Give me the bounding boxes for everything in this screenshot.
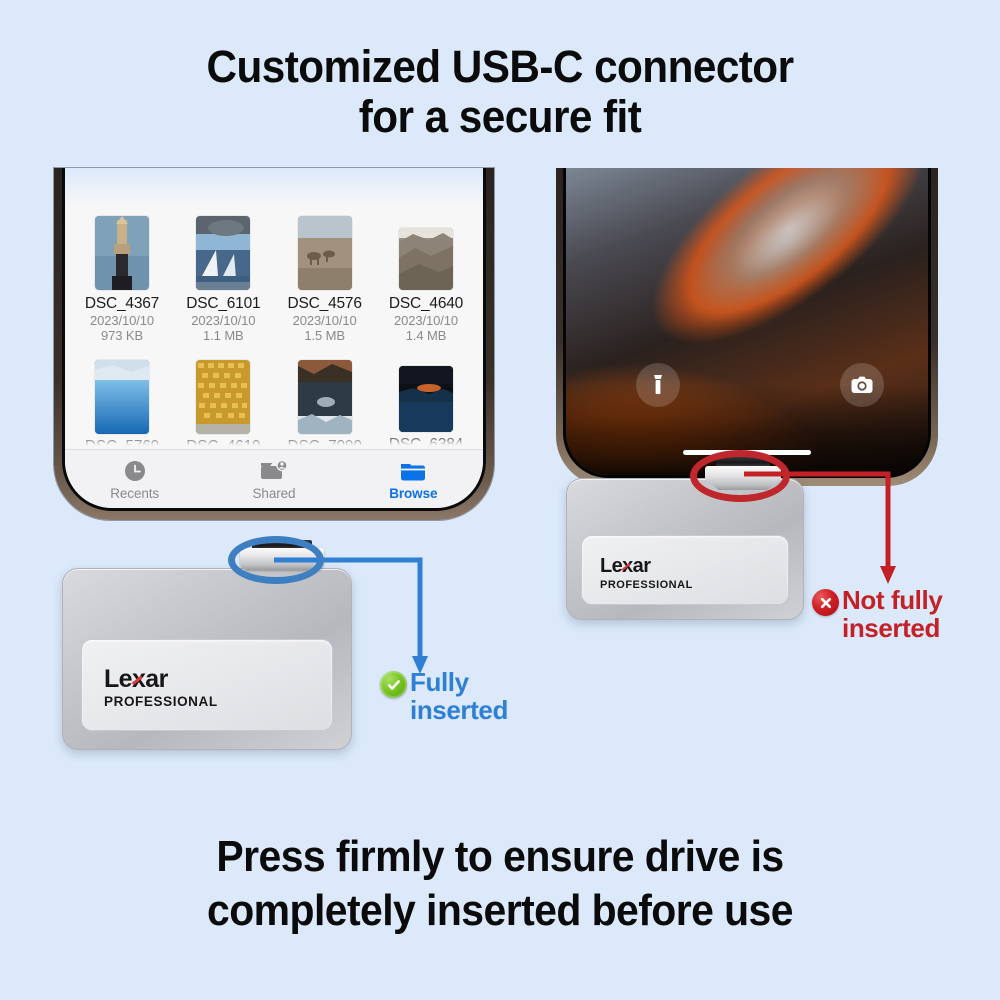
poster-canvas: Customized USB-C connector for a secure … [0,0,1000,1000]
footer-line-1: Press firmly to ensure drive is [216,832,783,881]
file-size: 1.4 MB [383,328,469,343]
file-cell[interactable]: DSC_4576 2023/10/10 1.5 MB [282,216,368,343]
file-name: DSC_4640 [383,295,469,313]
page-title: Customized USB-C connector for a secure … [30,42,970,142]
headline-line-2: for a secure fit [30,92,970,142]
tab-recents[interactable]: Recents [65,458,204,501]
highlight-oval-fully-inserted [228,536,324,584]
night-reflection-icon [298,360,352,434]
flashlight-button[interactable] [636,363,680,407]
file-name: DSC_4576 [282,295,368,313]
file-size: 1.5 MB [282,328,368,343]
file-thumbnail[interactable] [196,216,250,290]
file-cell[interactable]: 2023/10/10 1.1 MB [383,172,469,202]
callout-line-1: Fully [410,667,469,697]
right-phone [556,168,938,486]
file-cell[interactable]: 2023/10/10 1.5 MB [282,172,368,202]
file-size: 1.1 MB [383,187,469,202]
files-row-cut-top: 2023/10/10 973 KB 2023/10/10 1.1 MB 2023… [79,172,469,202]
file-date: 2023/10/10 [282,172,368,187]
file-thumbnail[interactable] [298,360,352,434]
lexar-x-accent: x [132,665,145,693]
dark-shoreline-icon [399,366,453,432]
files-row-1: DSC_4367 2023/10/10 973 KB [79,216,469,343]
tab-label: Shared [204,486,343,501]
camera-icon [851,376,873,394]
headline-line-1: Customized USB-C connector [206,41,793,92]
callout-text: Fully inserted [410,668,508,724]
folder-icon [344,458,483,484]
flashlight-icon [650,374,666,396]
file-thumbnail[interactable] [95,216,149,290]
file-size: 1.1 MB [180,187,266,202]
file-thumbnail[interactable] [399,366,453,432]
file-date: 2023/10/10 [79,313,165,328]
phone-frame-left: 2023/10/10 973 KB 2023/10/10 1.1 MB 2023… [54,168,494,520]
brand-name: Lexar [104,666,168,692]
file-date: 2023/10/10 [383,313,469,328]
blue-sea-icon [95,360,149,434]
row-clip-mask [65,434,483,450]
file-name: DSC_6101 [180,295,266,313]
brand-sub: PROFESSIONAL [600,579,693,591]
phone-frame-right [556,168,938,486]
file-size: 973 KB [79,328,165,343]
callout-text: Not fully inserted [842,586,942,642]
brand-name: Lexar [600,556,650,577]
file-cell[interactable]: DSC_6101 2023/10/10 1.1 MB [180,216,266,343]
files-app-screen: 2023/10/10 973 KB 2023/10/10 1.1 MB 2023… [65,168,483,508]
file-date: 2023/10/10 [383,172,469,187]
tab-browse[interactable]: Browse [344,458,483,501]
tab-label: Recents [65,486,204,501]
brand-sub: PROFESSIONAL [104,694,218,709]
footer-line-2: completely inserted before use [35,884,965,938]
file-cell[interactable]: DSC_4640 2023/10/10 1.4 MB [383,216,469,343]
x-circle-icon [812,589,839,616]
file-size: 1.1 MB [180,328,266,343]
lock-screen [566,168,928,475]
left-phone: 2023/10/10 973 KB 2023/10/10 1.1 MB 2023… [54,168,494,520]
lexar-x-accent: x [622,555,633,577]
footer-instruction: Press firmly to ensure drive is complete… [35,830,965,938]
file-name: DSC_4367 [79,295,165,313]
shared-folder-icon [204,458,343,484]
callout-line-2: inserted [842,614,942,642]
callout-line-1: Not fully [842,585,942,615]
file-size: 973 KB [79,187,165,202]
golden-mosaic-icon [196,360,250,434]
rocky-canyon-icon [399,228,453,290]
clock-icon [65,458,204,484]
tab-label: Browse [344,486,483,501]
file-thumbnail[interactable] [196,360,250,434]
camera-button[interactable] [840,363,884,407]
desert-camels-icon [298,216,352,290]
file-date: 2023/10/10 [282,313,368,328]
tab-shared[interactable]: Shared [204,458,343,501]
highlight-oval-not-inserted [690,450,790,502]
check-circle-icon [380,671,407,698]
files-tab-bar: Recents [65,449,483,508]
file-date: 2023/10/10 [180,313,266,328]
file-size: 1.5 MB [282,187,368,202]
phone-bezel-left: 2023/10/10 973 KB 2023/10/10 1.1 MB 2023… [62,168,486,511]
file-date: 2023/10/10 [180,172,266,187]
lexar-logo: Lexar PROFESSIONAL [104,666,218,709]
file-cell[interactable]: DSC_4367 2023/10/10 973 KB [79,216,165,343]
file-thumbnail[interactable] [399,228,453,290]
sailboat-harbor-icon [196,216,250,290]
file-date: 2023/10/10 [79,172,165,187]
file-thumbnail[interactable] [298,216,352,290]
file-cell[interactable]: 2023/10/10 973 KB [79,172,165,202]
file-thumbnail[interactable] [95,360,149,434]
lexar-logo: Lexar PROFESSIONAL [600,556,693,591]
callout-fully-inserted: Fully inserted [380,668,508,724]
file-cell[interactable]: 2023/10/10 1.1 MB [180,172,266,202]
callout-line-2: inserted [410,696,508,724]
minaret-tower-icon [95,216,149,290]
phone-bezel-right [563,168,931,478]
callout-not-fully-inserted: Not fully inserted [812,586,942,642]
